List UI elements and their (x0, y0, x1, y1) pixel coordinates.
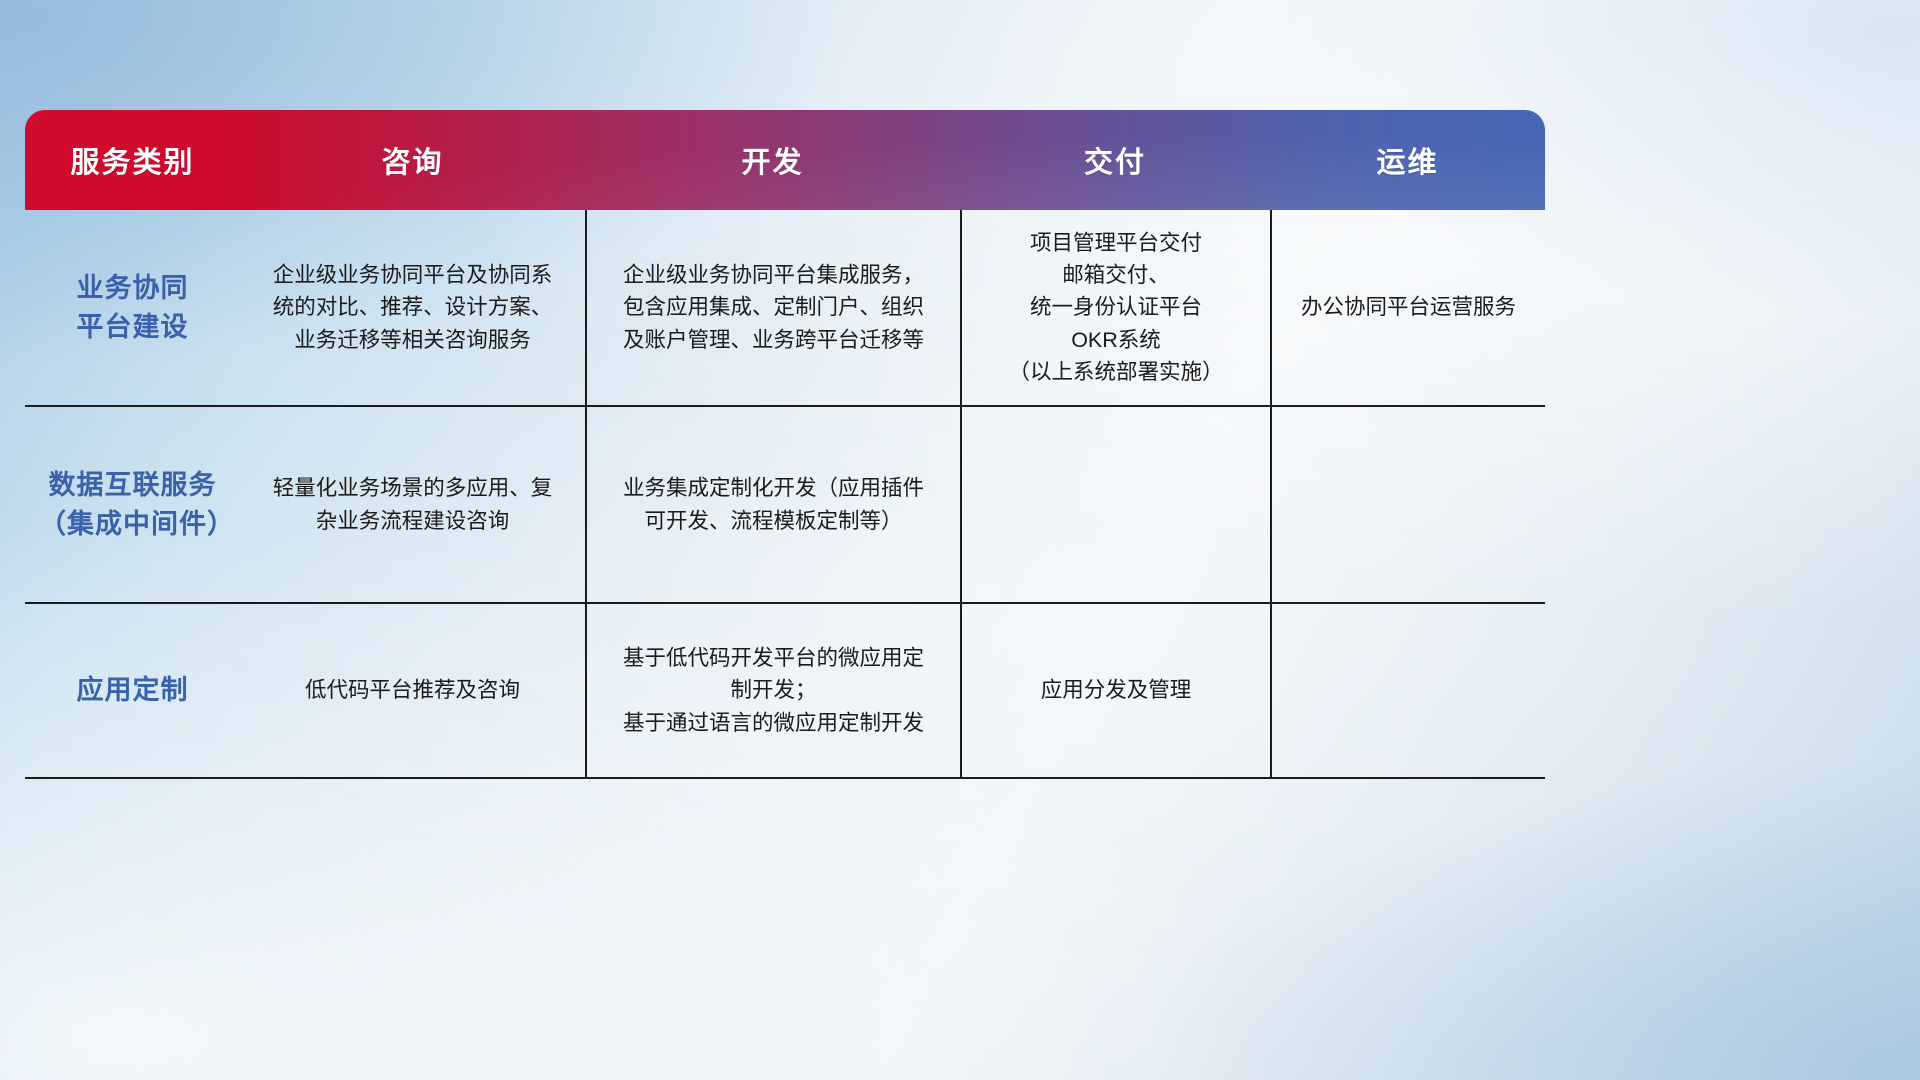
cell-operations (1270, 407, 1545, 602)
cell-consulting: 企业级业务协同平台及协同系 统的对比、推荐、设计方案、 业务迁移等相关咨询服务 (240, 210, 585, 405)
cell-development: 企业级业务协同平台集成服务， 包含应用集成、定制门户、组织 及账户管理、业务跨平… (585, 210, 960, 405)
table-row: 数据互联服务 （集成中间件） 轻量化业务场景的多应用、复 杂业务流程建设咨询 业… (25, 405, 1545, 602)
cell-category: 应用定制 (25, 604, 240, 777)
cell-delivery (960, 407, 1270, 602)
service-matrix-table: 服务类别 咨询 开发 交付 运维 业务协同 平台建设 企业级业务协同平台及协同系… (25, 110, 1545, 775)
cell-consulting: 低代码平台推荐及咨询 (240, 604, 585, 777)
cell-development: 业务集成定制化开发（应用插件 可开发、流程模板定制等） (585, 407, 960, 602)
column-header-consulting: 咨询 (240, 139, 585, 181)
column-header-delivery: 交付 (960, 139, 1270, 181)
column-header-development: 开发 (585, 139, 960, 181)
cell-development: 基于低代码开发平台的微应用定 制开发； 基于通过语言的微应用定制开发 (585, 604, 960, 777)
cell-category: 数据互联服务 （集成中间件） (25, 407, 240, 602)
column-header-category: 服务类别 (25, 139, 240, 181)
cell-delivery: 项目管理平台交付 邮箱交付、 统一身份认证平台 OKR系统 （以上系统部署实施） (960, 210, 1270, 405)
table-row: 应用定制 低代码平台推荐及咨询 基于低代码开发平台的微应用定 制开发； 基于通过… (25, 602, 1545, 777)
column-header-operations: 运维 (1270, 139, 1545, 181)
table-row: 业务协同 平台建设 企业级业务协同平台及协同系 统的对比、推荐、设计方案、 业务… (25, 210, 1545, 405)
cell-operations: 办公协同平台运营服务 (1270, 210, 1545, 405)
table-body: 业务协同 平台建设 企业级业务协同平台及协同系 统的对比、推荐、设计方案、 业务… (25, 210, 1545, 779)
table-header-row: 服务类别 咨询 开发 交付 运维 (25, 110, 1545, 210)
cell-consulting: 轻量化业务场景的多应用、复 杂业务流程建设咨询 (240, 407, 585, 602)
cell-delivery: 应用分发及管理 (960, 604, 1270, 777)
cell-category: 业务协同 平台建设 (25, 210, 240, 405)
cell-operations (1270, 604, 1545, 777)
slide-canvas: 服务类别 咨询 开发 交付 运维 业务协同 平台建设 企业级业务协同平台及协同系… (0, 0, 1920, 1080)
